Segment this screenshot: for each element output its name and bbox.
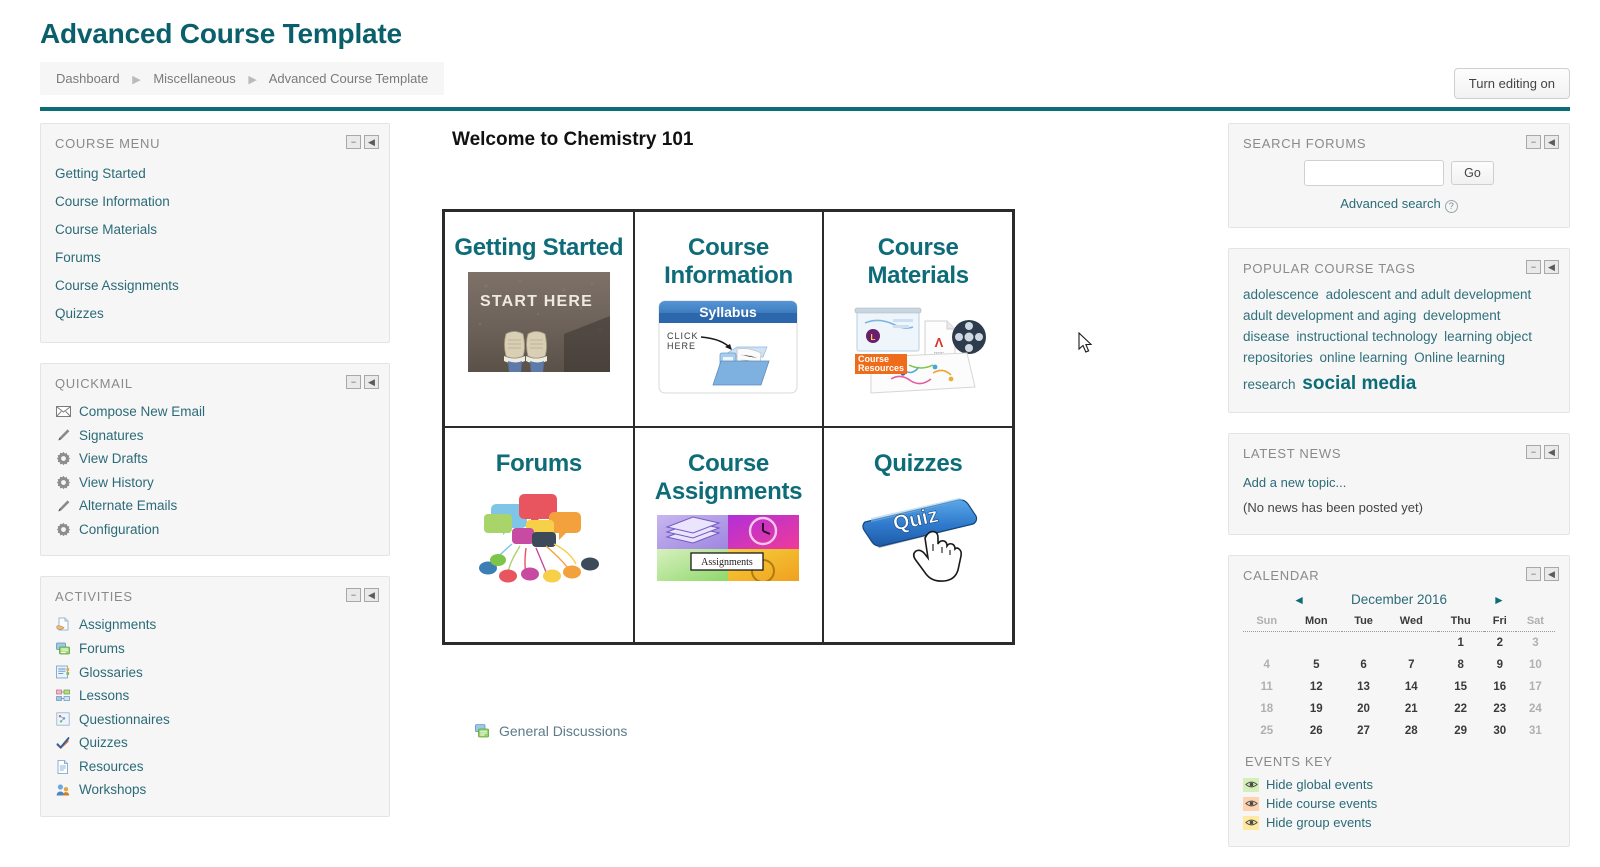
activity-item-assignments[interactable]: Assignments [55,613,375,637]
quickmail-item-alternate-emails[interactable]: Alternate Emails [55,494,375,518]
course-tile-grid: Getting Started [442,209,1015,645]
block-calendar-title: CALENDAR [1243,568,1555,583]
activity-link-quizzes[interactable]: Quizzes [79,733,128,753]
tile-quizzes[interactable]: Quizzes Quiz [823,427,1013,643]
calendar-weekday-fri: Fri [1484,613,1516,632]
svg-text:Λ: Λ [935,335,944,350]
calendar-week-row: 4 5 6 7 8 9 10 [1243,654,1555,676]
calendar-week-row: 11 12 13 14 15 16 17 [1243,676,1555,698]
block-search-forums-title: SEARCH FORUMS [1243,136,1555,151]
calendar-day[interactable]: 21 [1385,698,1438,720]
calendar-day[interactable]: 16 [1484,676,1516,698]
activity-item-workshops[interactable]: Workshops [55,778,375,802]
search-row: Go [1243,160,1555,186]
minimize-icon[interactable]: − [346,135,361,149]
calendar-day[interactable]: 23 [1484,698,1516,720]
calendar-day[interactable] [1243,632,1290,655]
activity-item-forums[interactable]: Forums [55,637,375,661]
block-course-menu: COURSE MENU − ◀ Getting Started Course I… [40,123,390,343]
hide-group-events-link[interactable]: Hide group events [1266,815,1372,830]
right-sidebar: SEARCH FORUMS − ◀ Go Advanced search? PO… [1228,123,1570,867]
activity-item-resources[interactable]: Resources [55,755,375,779]
tile-label: Course Assignments [643,450,815,505]
tag-online-learning-upper[interactable]: Online learning [1414,350,1505,365]
block-latest-news: LATEST NEWS − ◀ Add a new topic... (No n… [1228,433,1570,535]
calendar-prev-month-icon[interactable]: ◄ [1293,593,1305,607]
tag-online-learning-lower[interactable]: online learning [1320,350,1408,365]
calendar-month-label: December 2016 [1351,592,1447,607]
block-popular-course-tags: POPULAR COURSE TAGS − ◀ adolescence adol… [1228,248,1570,413]
syllabus-folder-graphic: Syllabus CLICK HERE [657,299,799,399]
welcome-heading: Welcome to Chemistry 101 [452,129,1204,151]
block-popular-course-tags-title: POPULAR COURSE TAGS [1243,261,1555,276]
block-quickmail: QUICKMAIL − ◀ Compose New Email Signatur… [40,363,390,556]
left-sidebar: COURSE MENU − ◀ Getting Started Course I… [40,123,390,837]
tile-label: Forums [496,450,582,478]
calendar-day[interactable]: 3 [1516,632,1555,655]
pencil-icon [55,498,71,514]
advanced-search-link[interactable]: Advanced search [1340,196,1440,211]
page-header: Advanced Course Template Dashboard ▶ Mis… [0,0,1600,95]
calendar-day[interactable] [1385,632,1438,655]
tag-adolescence[interactable]: adolescence [1243,287,1319,302]
activity-link-forums[interactable]: Forums [79,639,125,659]
calendar-day[interactable]: 14 [1385,676,1438,698]
calendar-weekday-sat: Sat [1516,613,1555,632]
minimize-icon[interactable]: − [346,588,361,602]
block-controls: − ◀ [1526,567,1559,581]
calendar-nav: ◄ December 2016 ► [1243,592,1555,607]
calendar-day[interactable]: 26 [1290,720,1342,742]
calendar-day[interactable]: 22 [1438,698,1484,720]
breadcrumb-item-dashboard[interactable]: Dashboard [56,71,120,86]
calendar-day[interactable]: 12 [1290,676,1342,698]
dock-icon[interactable]: ◀ [1544,135,1559,149]
tag-social-media[interactable]: social media [1302,373,1416,394]
breadcrumb-separator-icon: ▶ [132,73,140,86]
tag-cloud: adolescence adolescent and adult develop… [1243,285,1555,398]
svg-text:START HERE: START HERE [480,293,593,310]
dock-icon[interactable]: ◀ [1544,567,1559,581]
calendar-next-month-icon[interactable]: ► [1493,593,1505,607]
activity-link-glossaries[interactable]: Glossaries [79,663,143,683]
tile-label: Quizzes [874,450,963,478]
general-discussions-link[interactable]: General Discussions [499,723,627,739]
edit-button-wrapper: Turn editing on [1454,68,1570,99]
eye-icon [1243,816,1259,830]
activity-item-glossaries[interactable]: Glossaries [55,661,375,685]
tag-research[interactable]: research [1243,377,1296,392]
block-activities-title: ACTIVITIES [55,589,375,604]
calendar-day[interactable]: 31 [1516,720,1555,742]
help-icon[interactable]: ? [1445,200,1458,213]
minimize-icon[interactable]: − [346,375,361,389]
calendar-week-row: 25 26 27 28 29 30 31 [1243,720,1555,742]
quickmail-item-view-history[interactable]: View History [55,471,375,495]
breadcrumb-separator-icon: ▶ [248,73,256,86]
calendar-day[interactable]: 30 [1484,720,1516,742]
breadcrumb: Dashboard ▶ Miscellaneous ▶ Advanced Cou… [40,62,444,95]
course-resources-graphic: L Λ PDF [847,299,989,399]
activity-link-workshops[interactable]: Workshops [79,780,146,800]
calendar-day[interactable]: 29 [1438,720,1484,742]
block-controls: − ◀ [346,375,379,389]
calendar-weekday-thu: Thu [1438,613,1484,632]
block-course-menu-title: COURSE MENU [55,136,375,151]
workshop-icon [55,782,71,798]
tile-course-information[interactable]: Course Information Syllabus CLICK HERE [634,211,824,427]
calendar-day[interactable]: 2 [1484,632,1516,655]
events-key-group-row[interactable]: Hide group events [1243,813,1555,832]
calendar-day[interactable]: 10 [1516,654,1555,676]
glossary-icon [55,664,71,680]
calendar-day[interactable]: 27 [1342,720,1385,742]
forum-icon [474,723,490,739]
calendar-day[interactable]: 7 [1385,654,1438,676]
pencil-icon [55,427,71,443]
add-new-topic-row: Add a new topic... [1243,470,1555,495]
minimize-icon[interactable]: − [1526,260,1541,274]
dock-icon[interactable]: ◀ [364,135,379,149]
svg-text:CLICK: CLICK [667,331,699,341]
forum-icon [55,641,71,657]
svg-text:L: L [871,333,876,342]
calendar-weekday-mon: Mon [1290,613,1342,632]
dock-icon[interactable]: ◀ [1544,445,1559,459]
calendar-table: Sun Mon Tue Wed Thu Fri Sat [1243,613,1555,742]
dock-icon[interactable]: ◀ [364,375,379,389]
quickmail-link-compose[interactable]: Compose New Email [79,402,205,422]
calendar-header-row: Sun Mon Tue Wed Thu Fri Sat [1243,613,1555,632]
calendar-day[interactable]: 5 [1290,654,1342,676]
quickmail-item-signatures[interactable]: Signatures [55,424,375,448]
calendar-day[interactable] [1342,632,1385,655]
sidebar-item-getting-started[interactable]: Getting Started [55,160,375,188]
tile-course-assignments[interactable]: Course Assignments [634,427,824,643]
calendar-day[interactable]: 13 [1342,676,1385,698]
general-discussions-row[interactable]: General Discussions [474,723,1204,739]
calendar-day[interactable]: 19 [1290,698,1342,720]
quickmail-link-view-history[interactable]: View History [79,473,154,493]
tile-course-materials[interactable]: Course Materials L [823,211,1013,427]
tile-label: Course Materials [832,234,1004,289]
speech-bubbles-mice-graphic [468,488,610,588]
sidebar-item-forums[interactable]: Forums [55,244,375,272]
add-new-topic-link[interactable]: Add a new topic... [1243,475,1346,490]
calendar-day[interactable]: 25 [1243,720,1290,742]
quiz-checkmark-icon [55,735,71,751]
calendar-day[interactable] [1290,632,1342,655]
dock-icon[interactable]: ◀ [364,588,379,602]
minimize-icon[interactable]: − [1526,135,1541,149]
sidebar-item-quizzes[interactable]: Quizzes [55,300,375,328]
breadcrumb-item-current: Advanced Course Template [269,71,428,86]
activity-item-questionnaires[interactable]: Questionnaires [55,708,375,732]
mouse-cursor [1078,332,1094,357]
minimize-icon[interactable]: − [1526,567,1541,581]
sidebar-item-course-assignments[interactable]: Course Assignments [55,272,375,300]
activity-item-lessons[interactable]: Lessons [55,684,375,708]
calendar-day[interactable]: 24 [1516,698,1555,720]
main-content: Welcome to Chemistry 101 Getting Started [390,123,1228,739]
resource-page-icon [55,759,71,775]
no-news-text: (No news has been posted yet) [1243,495,1555,520]
calendar-day[interactable]: 11 [1243,676,1290,698]
lesson-icon [55,688,71,704]
activity-link-assignments[interactable]: Assignments [79,615,156,635]
quickmail-link-signatures[interactable]: Signatures [79,426,144,446]
block-search-forums: SEARCH FORUMS − ◀ Go Advanced search? [1228,123,1570,228]
calendar-day[interactable]: 9 [1484,654,1516,676]
tag-adult-development-and-aging[interactable]: adult development and aging [1243,308,1416,323]
block-activities: ACTIVITIES − ◀ Assignments Forums [40,576,390,817]
start-here-photo: START HERE [468,272,610,372]
calendar-day[interactable]: 18 [1243,698,1290,720]
eye-icon [1243,797,1259,811]
activity-link-questionnaires[interactable]: Questionnaires [79,710,170,730]
calendar-day[interactable]: 17 [1516,676,1555,698]
events-key-course-row[interactable]: Hide course events [1243,794,1555,813]
calendar-weekday-tue: Tue [1342,613,1385,632]
tile-forums[interactable]: Forums [444,427,634,643]
assignment-icon [55,617,71,633]
svg-text:Syllabus: Syllabus [700,304,758,320]
tile-getting-started[interactable]: Getting Started [444,211,634,427]
block-controls: − ◀ [346,135,379,149]
search-input[interactable] [1304,160,1444,186]
page-title: Advanced Course Template [40,18,1600,50]
calendar-day[interactable]: 28 [1385,720,1438,742]
quickmail-item-compose[interactable]: Compose New Email [55,400,375,424]
block-controls: − ◀ [1526,135,1559,149]
questionnaire-icon [55,711,71,727]
activity-link-lessons[interactable]: Lessons [79,686,129,706]
gear-icon [55,474,71,490]
quickmail-link-alternate-emails[interactable]: Alternate Emails [79,496,177,516]
events-key-title: EVENTS KEY [1245,754,1555,769]
calendar-day[interactable]: 1 [1438,632,1484,655]
tag-disease[interactable]: disease [1243,329,1290,344]
quickmail-link-view-drafts[interactable]: View Drafts [79,449,148,469]
sidebar-item-course-information[interactable]: Course Information [55,188,375,216]
breadcrumb-item-miscellaneous[interactable]: Miscellaneous [153,71,235,86]
gear-icon [55,522,71,538]
calendar-day[interactable]: 6 [1342,654,1385,676]
quiz-button-hand-graphic: Quiz [847,488,989,588]
block-quickmail-title: QUICKMAIL [55,376,375,391]
minimize-icon[interactable]: − [1526,445,1541,459]
turn-editing-on-button[interactable]: Turn editing on [1454,68,1570,99]
quickmail-link-configuration[interactable]: Configuration [79,520,159,540]
quickmail-item-configuration[interactable]: Configuration [55,518,375,542]
tag-development[interactable]: development [1423,308,1500,323]
block-controls: − ◀ [1526,445,1559,459]
hide-course-events-link[interactable]: Hide course events [1266,796,1377,811]
assignments-collage-graphic: Assignments [657,515,799,581]
page-columns: COURSE MENU − ◀ Getting Started Course I… [0,111,1600,867]
advanced-search-row: Advanced search? [1243,196,1555,213]
block-controls: − ◀ [346,588,379,602]
dock-icon[interactable]: ◀ [1544,260,1559,274]
quickmail-item-view-drafts[interactable]: View Drafts [55,447,375,471]
block-calendar: CALENDAR − ◀ ◄ December 2016 ► Sun Mon T… [1228,555,1570,847]
tag-instructional-technology[interactable]: instructional technology [1296,329,1437,344]
block-controls: − ◀ [1526,260,1559,274]
activity-link-resources[interactable]: Resources [79,757,144,777]
calendar-day[interactable]: 15 [1438,676,1484,698]
tile-label: Course Information [643,234,815,289]
svg-text:HERE: HERE [667,341,696,351]
envelope-icon [55,404,71,420]
tile-label: Getting Started [454,234,623,262]
calendar-day[interactable]: 8 [1438,654,1484,676]
calendar-day[interactable]: 20 [1342,698,1385,720]
sidebar-item-course-materials[interactable]: Course Materials [55,216,375,244]
calendar-week-row: 18 19 20 21 22 23 24 [1243,698,1555,720]
gear-icon [55,451,71,467]
svg-text:Resources: Resources [858,363,904,373]
calendar-weekday-wed: Wed [1385,613,1438,632]
calendar-day[interactable]: 4 [1243,654,1290,676]
svg-text:Assignments: Assignments [702,557,754,568]
calendar-week-row: 1 2 3 [1243,632,1555,655]
block-latest-news-title: LATEST NEWS [1243,446,1555,461]
activity-item-quizzes[interactable]: Quizzes [55,731,375,755]
calendar-weekday-sun: Sun [1243,613,1290,632]
search-go-button[interactable]: Go [1451,161,1494,185]
tag-adolescent-and-adult-development[interactable]: adolescent and adult development [1326,287,1532,302]
